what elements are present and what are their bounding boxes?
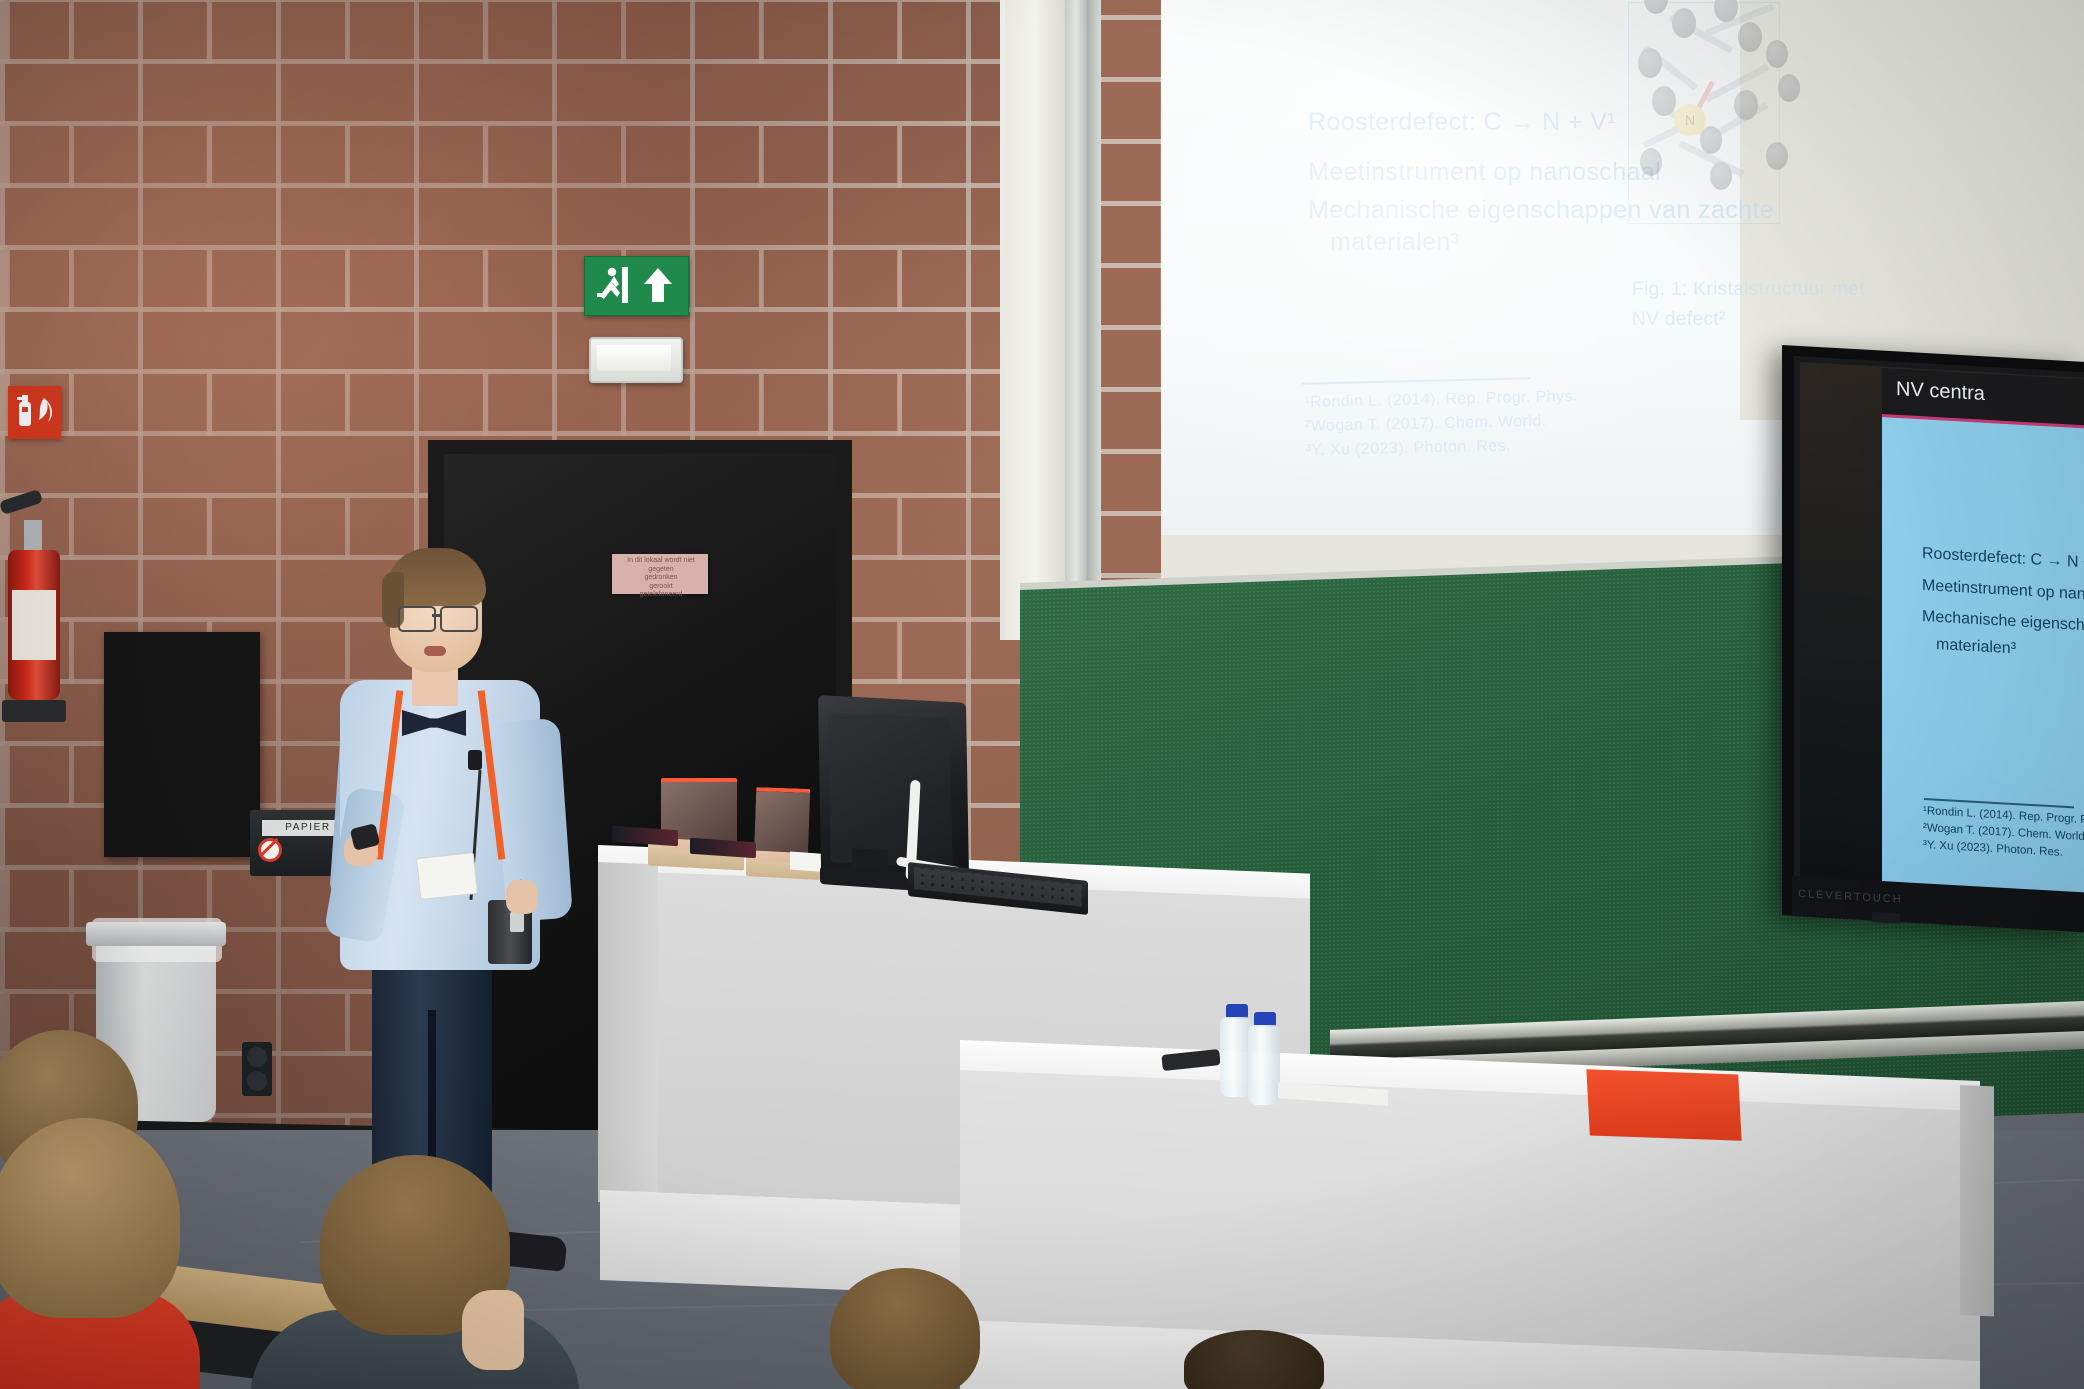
- audience-member-3-hand: [462, 1290, 524, 1370]
- fire-extinguisher-sign: [8, 386, 61, 439]
- lapel-microphone: [468, 750, 482, 770]
- window-pillar: [1005, 0, 1065, 640]
- lectern-desk-side: [598, 862, 658, 1204]
- extinguisher-valve: [24, 520, 42, 554]
- extinguisher-bracket: [2, 700, 66, 722]
- waste-bin-rim: [86, 922, 226, 946]
- projection-bullet-2: Meetinstrument op nanoschaal: [1308, 158, 1661, 187]
- front-desk-right-edge: [1960, 1085, 1994, 1316]
- nitrogen-atom-label: N: [1674, 104, 1706, 136]
- monitor-rear-panel: [828, 712, 953, 869]
- socket-outlet-bottom: [247, 1071, 267, 1091]
- no-smoking-icon: [258, 838, 282, 862]
- audience-member-4-head: [830, 1268, 980, 1389]
- glasses-right-lens: [440, 606, 478, 632]
- crystal-structure-figure: N: [1610, 0, 1820, 257]
- figure-caption-line-2: NV defect²: [1632, 305, 1865, 335]
- extinguisher-label: [12, 590, 56, 660]
- wall-notice-board: [104, 632, 260, 857]
- figure-caption: Fig. 1: Kristalstructuur met NV defect²: [1632, 275, 1865, 335]
- water-bottle-2: [1248, 1025, 1280, 1105]
- audience-member-2-head: [0, 1118, 180, 1318]
- window-mullion-inner: [1087, 0, 1101, 640]
- projection-references: ¹Rondin L. (2014). Rep. Progr. Phys. ²Wo…: [1304, 385, 1579, 463]
- fire-extinguisher-icon: [8, 386, 61, 439]
- glasses-left-lens: [398, 606, 436, 632]
- door-notice-text: In dit lokaal wordt niet gegeten gedronk…: [617, 557, 705, 600]
- lecture-hall-photo: Roosterdefect: C → N + V¹ Meetinstrument…: [0, 0, 2084, 1389]
- door-notice-line-1: In dit lokaal wordt niet: [617, 557, 705, 566]
- name-badge: [416, 852, 478, 900]
- window-mullion: [1065, 0, 1087, 640]
- arrow-up-icon: [638, 265, 678, 305]
- figure-caption-line-1: Fig. 1: Kristalstructuur met: [1632, 275, 1865, 305]
- transmitter-display: [510, 912, 524, 932]
- glasses-bridge: [432, 614, 442, 617]
- door-notice-line-5: getelefoneerd: [617, 591, 705, 600]
- display-slide-title: NV centra: [1896, 378, 1985, 406]
- socket-outlet-top: [247, 1047, 267, 1067]
- projection-bullet-3-cont: materialen³: [1330, 228, 1459, 257]
- door-notice-line-3: gedronken: [617, 574, 705, 583]
- presenter-right-hand: [506, 880, 538, 914]
- emergency-light-diffuser: [597, 345, 671, 371]
- display-references: ¹Rondin L. (2014). Rep. Progr. Ph ²Wogan…: [1923, 803, 2084, 864]
- display-sensor-nub: [1872, 912, 1900, 924]
- door-notice-line-4: gerookt: [617, 583, 705, 592]
- pillar-brick-strip: [1101, 0, 1161, 640]
- presenter-mouth: [424, 646, 446, 656]
- door-notice-line-2: gegeten: [617, 566, 705, 575]
- running-person-icon: [592, 263, 636, 307]
- orange-folder: [1586, 1069, 1741, 1141]
- projection-bullet-1: Roosterdefect: C → N + V¹: [1308, 108, 1616, 137]
